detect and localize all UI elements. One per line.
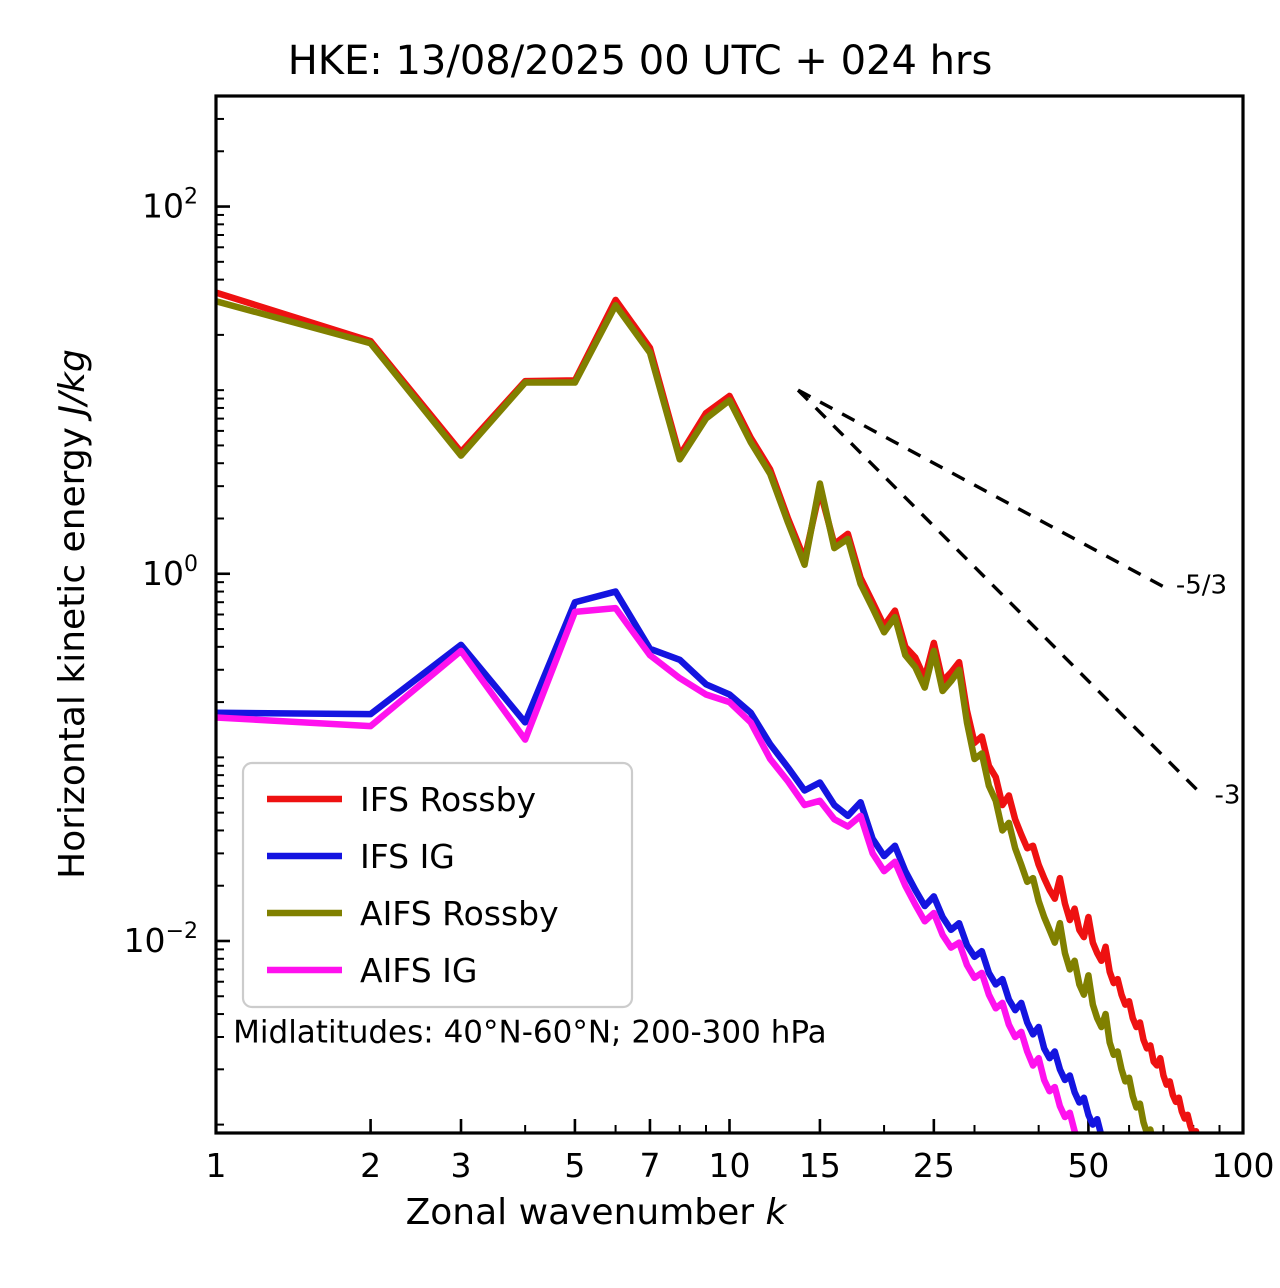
x-axis-label: Zonal wavenumber k xyxy=(406,1192,789,1233)
x-tick-label: 100 xyxy=(1212,1146,1275,1185)
x-tick-label: 50 xyxy=(1067,1146,1109,1185)
x-tick-label: 7 xyxy=(639,1146,660,1185)
x-tick-label: 3 xyxy=(451,1146,472,1185)
reference-line-3 xyxy=(798,390,1201,794)
x-tick-label: 5 xyxy=(564,1146,585,1185)
legend-label-aifs-ig[interactable]: AIFS IG xyxy=(360,951,477,990)
y-tick-label: 102 xyxy=(142,185,198,226)
chart-figure: HKE: 13/08/2025 00 UTC + 024 hrs Zonal w… xyxy=(0,0,1280,1288)
slope-label-3: -3 xyxy=(1214,781,1240,811)
x-tick-label: 10 xyxy=(709,1146,751,1185)
slope-label-53: -5/3 xyxy=(1176,571,1227,601)
y-axis-label: Horizontal kinetic energy J/kg xyxy=(52,349,93,879)
x-tick-label: 15 xyxy=(799,1146,841,1185)
legend-label-aifs-rossby[interactable]: AIFS Rossby xyxy=(360,894,559,933)
region-note: Midlatitudes: 40°N-60°N; 200-300 hPa xyxy=(233,1014,827,1050)
legend-label-ifs-rossby[interactable]: IFS Rossby xyxy=(360,780,536,819)
y-tick-label: 100 xyxy=(142,552,198,593)
legend-label-ifs-ig[interactable]: IFS IG xyxy=(360,837,455,876)
x-tick-label: 1 xyxy=(206,1146,227,1185)
spectrum-plot: Zonal wavenumber k Horizontal kinetic en… xyxy=(0,0,1280,1288)
y-tick-label: 10−2 xyxy=(124,919,198,960)
series-line-ifs-rossby xyxy=(216,293,1243,1227)
x-tick-label: 2 xyxy=(360,1146,381,1185)
reference-slope-lines xyxy=(798,390,1201,794)
x-tick-label: 25 xyxy=(913,1146,955,1185)
chart-legend[interactable]: IFS RossbyIFS IGAIFS RossbyAIFS IG xyxy=(243,763,632,1007)
